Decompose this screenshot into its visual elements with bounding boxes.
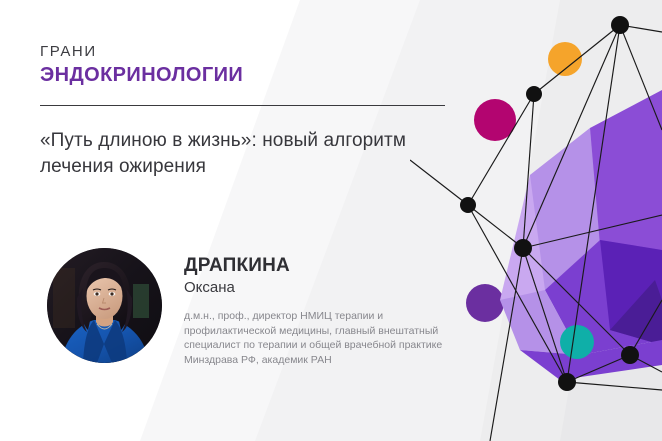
speaker-text-block: ДРАПКИНА Оксана д.м.н., проф., директор … — [184, 256, 454, 368]
crystal-facet-medium — [590, 90, 662, 250]
teal-circle — [560, 325, 594, 359]
header-divider — [40, 105, 445, 106]
node-upper-left — [526, 86, 542, 102]
node-lower-right — [621, 346, 639, 364]
node-lower-center — [558, 373, 576, 391]
content-column: ГРАНИ ЭНДОКРИНОЛОГИИ «Путь длиною в жизн… — [0, 0, 470, 441]
avatar — [47, 248, 162, 363]
slide-canvas: ГРАНИ ЭНДОКРИНОЛОГИИ «Путь длиною в жизн… — [0, 0, 662, 441]
node-center — [514, 239, 532, 257]
purple-circle — [466, 284, 504, 322]
speaker-credentials: д.м.н., проф., директор НМИЦ терапии и п… — [184, 309, 454, 369]
speaker-firstname: Оксана — [184, 279, 454, 298]
brand-line-2: ЭНДОКРИНОЛОГИИ — [40, 65, 243, 85]
brand-logo: ГРАНИ ЭНДОКРИНОЛОГИИ — [40, 44, 243, 85]
speaker-surname: ДРАПКИНА — [184, 256, 454, 277]
brand-line-1: ГРАНИ — [40, 44, 243, 59]
avatar-portrait-image — [47, 248, 162, 363]
page-title: «Путь длиною в жизнь»: новый алгоритм ле… — [40, 128, 450, 180]
node-top — [611, 16, 629, 34]
